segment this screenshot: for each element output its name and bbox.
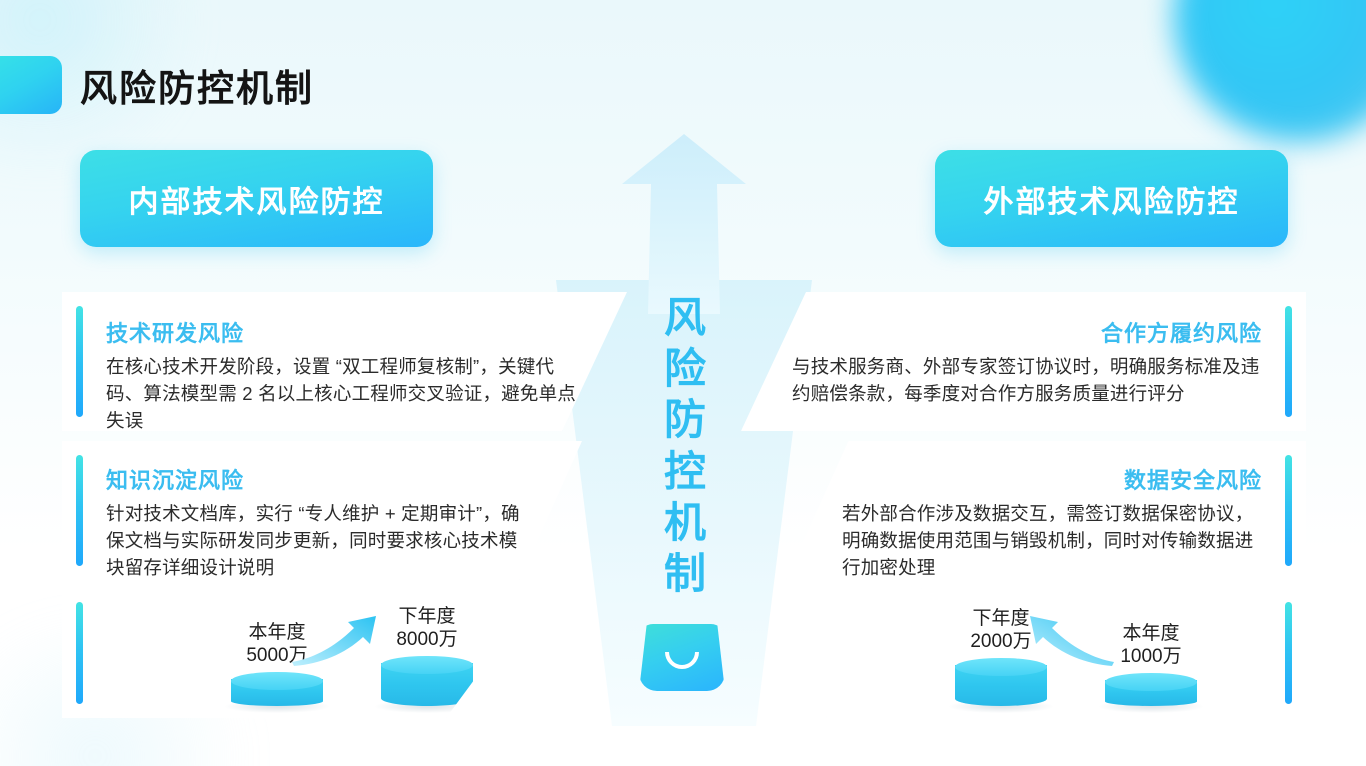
center-char-1: 风 bbox=[655, 292, 715, 343]
up-arrow-icon bbox=[622, 134, 746, 314]
risk-card-partner-compliance[interactable]: 合作方履约风险 与技术服务商、外部专家签订协议时，明确服务标准及违约赔偿条款，每… bbox=[741, 292, 1306, 431]
risk-card-tech-rnd[interactable]: 技术研发风险 在核心技术开发阶段，设置 “双工程师复核制”，关键代码、算法模型需… bbox=[62, 292, 627, 431]
right-budget-chart: 下年度 2000万 本年度 1000万 bbox=[916, 588, 1256, 718]
card-heading: 技术研发风险 bbox=[106, 316, 576, 348]
card-body: 在核心技术开发阶段，设置 “双工程师复核制”，关键代码、算法模型需 2 名以上核… bbox=[106, 354, 576, 434]
growth-arrow-icon bbox=[290, 614, 390, 666]
card-heading: 知识沉淀风险 bbox=[106, 463, 526, 495]
center-char-2: 险 bbox=[655, 343, 715, 394]
card-accent-bar bbox=[1285, 602, 1292, 704]
card-body: 针对技术文档库，实行 “专人维护 + 定期审计”，确保文档与实际研发同步更新，同… bbox=[106, 501, 526, 581]
header-pill-external-label: 外部技术风险防控 bbox=[984, 177, 1240, 221]
center-vertical-title: 风 险 防 控 机 制 bbox=[655, 292, 715, 599]
cylinder-bar bbox=[1105, 673, 1197, 706]
card-body: 若外部合作涉及数据交互，需签订数据保密协议，明确数据使用范围与销毁机制，同时对传… bbox=[842, 501, 1262, 581]
card-accent-bar bbox=[76, 455, 83, 566]
page-title: 风险防控机制 bbox=[80, 58, 314, 112]
center-char-6: 制 bbox=[655, 548, 715, 599]
risk-card-knowledge[interactable]: 知识沉淀风险 针对技术文档库，实行 “专人维护 + 定期审计”，确保文档与实际研… bbox=[62, 441, 582, 580]
center-char-4: 控 bbox=[655, 446, 715, 497]
risk-card-data-security[interactable]: 数据安全风险 若外部合作涉及数据交互，需签订数据保密协议，明确数据使用范围与销毁… bbox=[786, 441, 1306, 580]
card-accent-bar bbox=[76, 306, 83, 417]
center-char-3: 防 bbox=[655, 394, 715, 445]
card-accent-bar bbox=[76, 602, 83, 704]
header-pill-external[interactable]: 外部技术风险防控 bbox=[935, 150, 1288, 247]
card-body: 与技术服务商、外部专家签订协议时，明确服务标准及违约赔偿条款，每季度对合作方服务… bbox=[792, 354, 1262, 408]
page-title-row: 风险防控机制 bbox=[0, 56, 314, 114]
cylinder-bar bbox=[381, 656, 473, 706]
title-accent-block bbox=[0, 56, 62, 114]
smile-bag-icon bbox=[639, 624, 725, 691]
card-heading: 数据安全风险 bbox=[842, 463, 1262, 495]
header-pill-internal-label: 内部技术风险防控 bbox=[129, 177, 385, 221]
card-accent-bar bbox=[1285, 306, 1292, 417]
card-heading: 合作方履约风险 bbox=[792, 316, 1262, 348]
growth-arrow-icon bbox=[1016, 614, 1116, 666]
cylinder-bar bbox=[231, 672, 323, 706]
smile-curve bbox=[665, 652, 699, 669]
header-pill-internal[interactable]: 内部技术风险防控 bbox=[80, 150, 433, 247]
center-char-5: 机 bbox=[655, 497, 715, 548]
card-accent-bar bbox=[1285, 455, 1292, 566]
